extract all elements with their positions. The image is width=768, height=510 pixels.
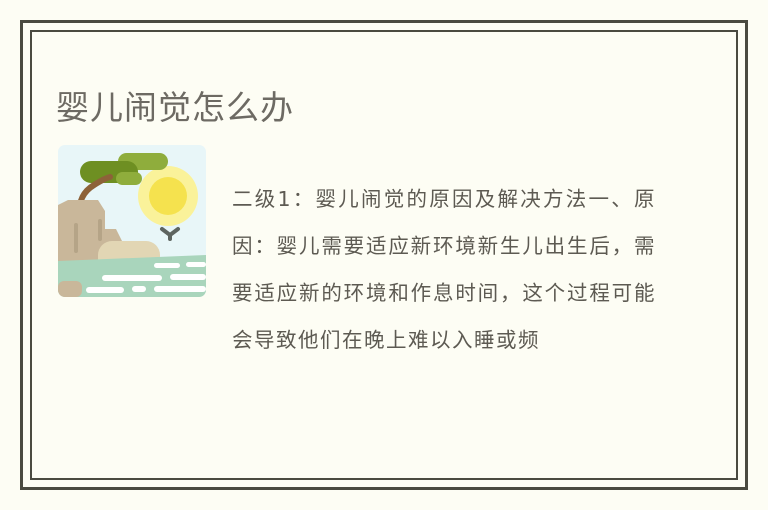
article-body-text: 二级1：婴儿闹觉的原因及解决方法一、原因：婴儿需要适应新环境新生儿出生后，需要适… xyxy=(232,176,656,364)
landscape-illustration xyxy=(58,145,206,297)
tree-foliage-right xyxy=(116,172,142,185)
water-ripple xyxy=(154,263,180,268)
rock-crevice-right xyxy=(98,219,102,241)
landscape-illustration-svg xyxy=(58,145,206,297)
shore-rock xyxy=(58,281,82,297)
document-page: 婴儿闹觉怎么办 xyxy=(0,0,768,510)
rock-crevice-left xyxy=(74,223,78,253)
water-ripple xyxy=(170,274,206,280)
water-ripple xyxy=(86,287,124,293)
water-ripple xyxy=(154,286,206,292)
water-ripple xyxy=(102,275,162,281)
sun-core-icon xyxy=(149,177,187,215)
page-title: 婴儿闹觉怎么办 xyxy=(56,86,294,130)
water-ripple xyxy=(132,286,146,292)
water-ripple xyxy=(186,262,206,267)
